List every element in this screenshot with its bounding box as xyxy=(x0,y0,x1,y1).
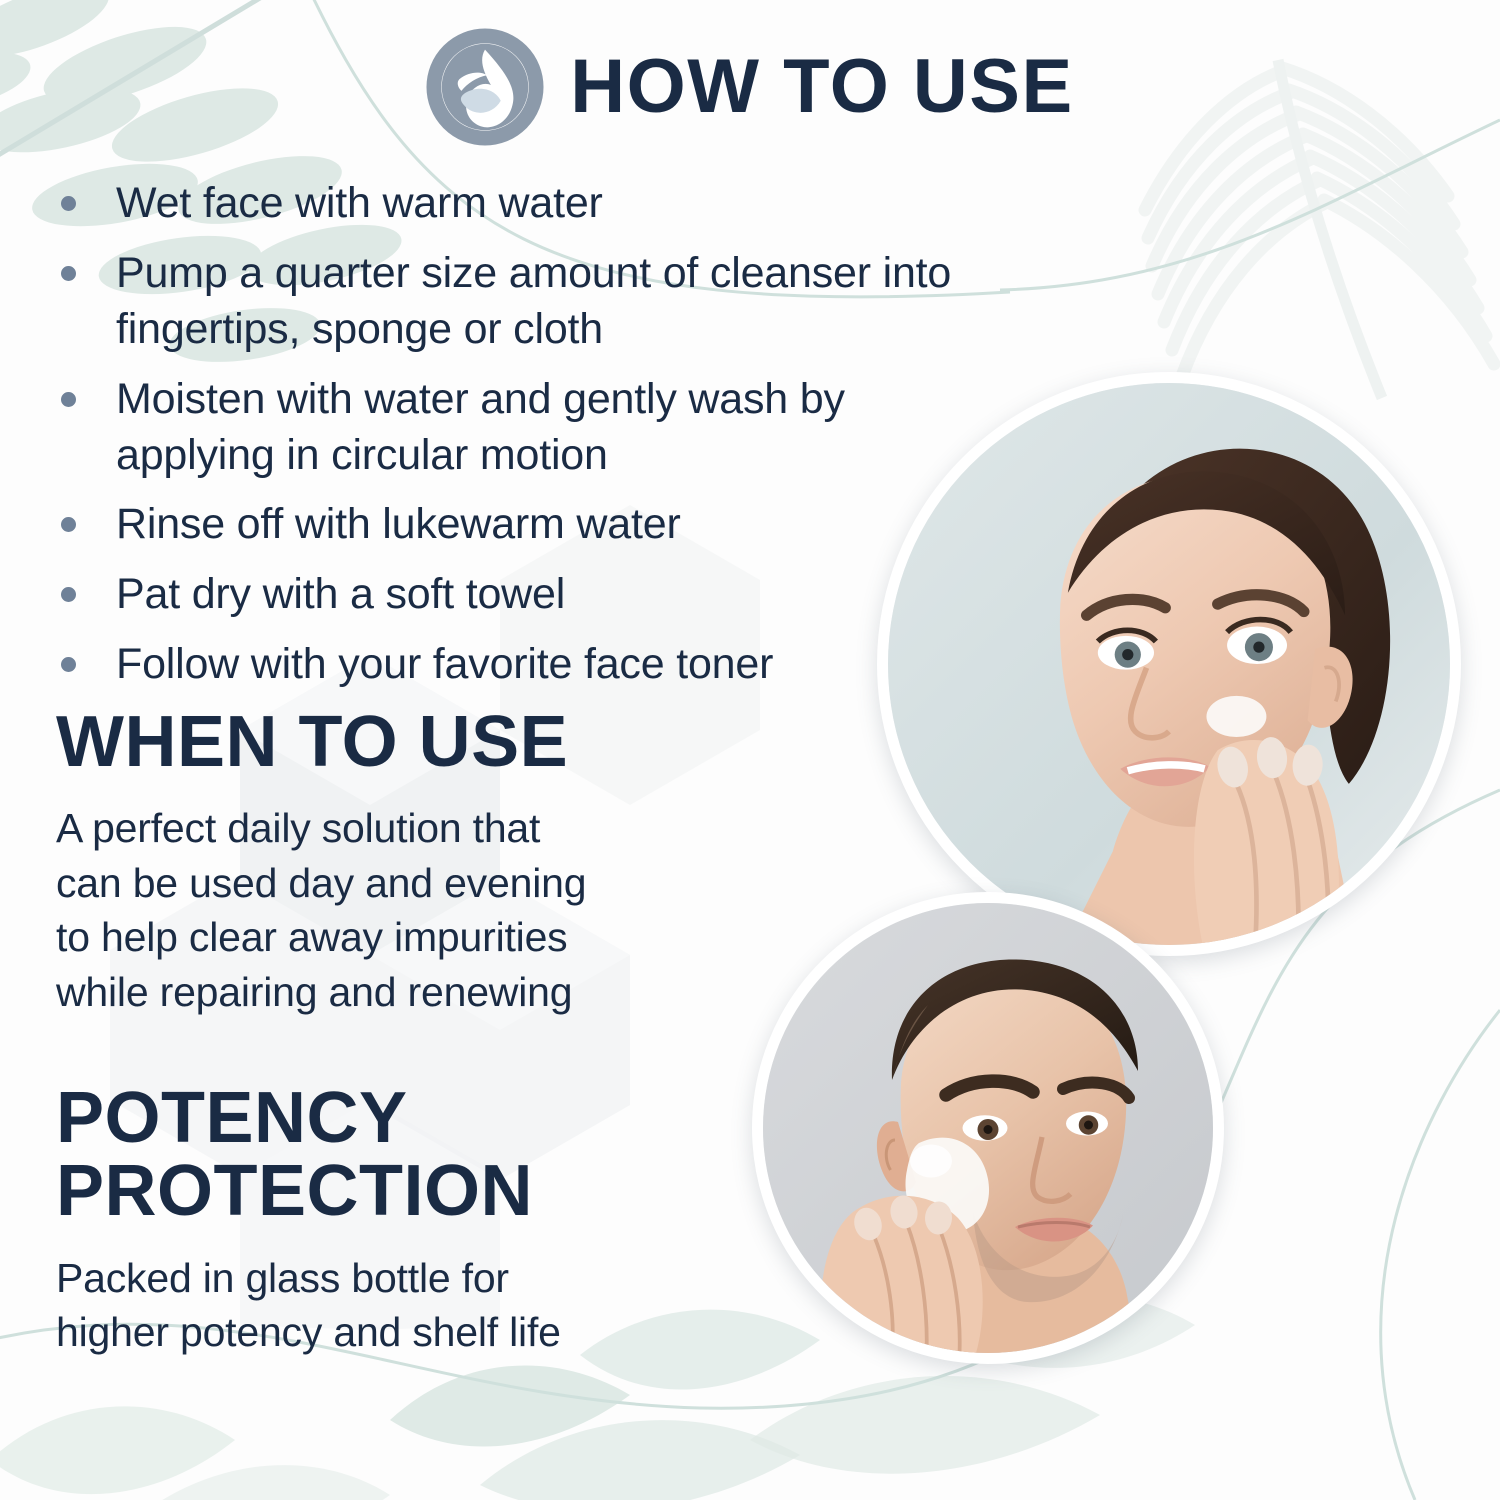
bullet-dot-icon xyxy=(61,517,76,532)
step-text: Pat dry with a soft towel xyxy=(116,570,565,618)
step-text: Follow with your favorite face toner xyxy=(116,640,773,688)
bullet-dot-icon xyxy=(61,196,76,211)
list-item: Pump a quarter size amount of cleanser i… xyxy=(50,246,980,358)
man-applying-cleanser-photo xyxy=(752,892,1224,1364)
infographic-canvas: HOW TO USE Wet face with warm water Pump… xyxy=(0,0,1500,1500)
when-to-use-body: A perfect daily solution that can be use… xyxy=(56,801,756,1019)
potency-protection-title: POTENCY PROTECTION xyxy=(56,1082,716,1229)
when-to-use-title: WHEN TO USE xyxy=(56,706,756,779)
bullet-dot-icon xyxy=(61,587,76,602)
step-text: Wet face with warm water xyxy=(116,179,603,227)
page-title: HOW TO USE xyxy=(570,49,1073,125)
page-header: HOW TO USE xyxy=(0,28,1500,146)
leaf-droplet-logo-icon xyxy=(426,28,544,146)
leaf-cluster-decoration xyxy=(0,1370,390,1500)
bullet-dot-icon xyxy=(61,266,76,281)
bullet-dot-icon xyxy=(61,392,76,407)
bullet-dot-icon xyxy=(61,657,76,672)
list-item: Pat dry with a soft towel xyxy=(50,567,980,623)
step-text: Pump a quarter size amount of cleanser i… xyxy=(116,249,951,353)
list-item: Moisten with water and gently wash by ap… xyxy=(50,372,980,484)
list-item: Rinse off with lukewarm water xyxy=(50,497,980,553)
woman-applying-cleanser-photo xyxy=(877,372,1461,956)
list-item: Wet face with warm water xyxy=(50,176,980,232)
potency-protection-section: POTENCY PROTECTION Packed in glass bottl… xyxy=(56,1082,716,1360)
list-item: Follow with your favorite face toner xyxy=(50,637,980,693)
step-text: Moisten with water and gently wash by ap… xyxy=(116,375,845,479)
step-text: Rinse off with lukewarm water xyxy=(116,500,681,548)
when-to-use-section: WHEN TO USE A perfect daily solution tha… xyxy=(56,706,756,1020)
how-to-use-steps-list: Wet face with warm water Pump a quarter … xyxy=(50,176,980,707)
potency-protection-body: Packed in glass bottle for higher potenc… xyxy=(56,1251,716,1360)
